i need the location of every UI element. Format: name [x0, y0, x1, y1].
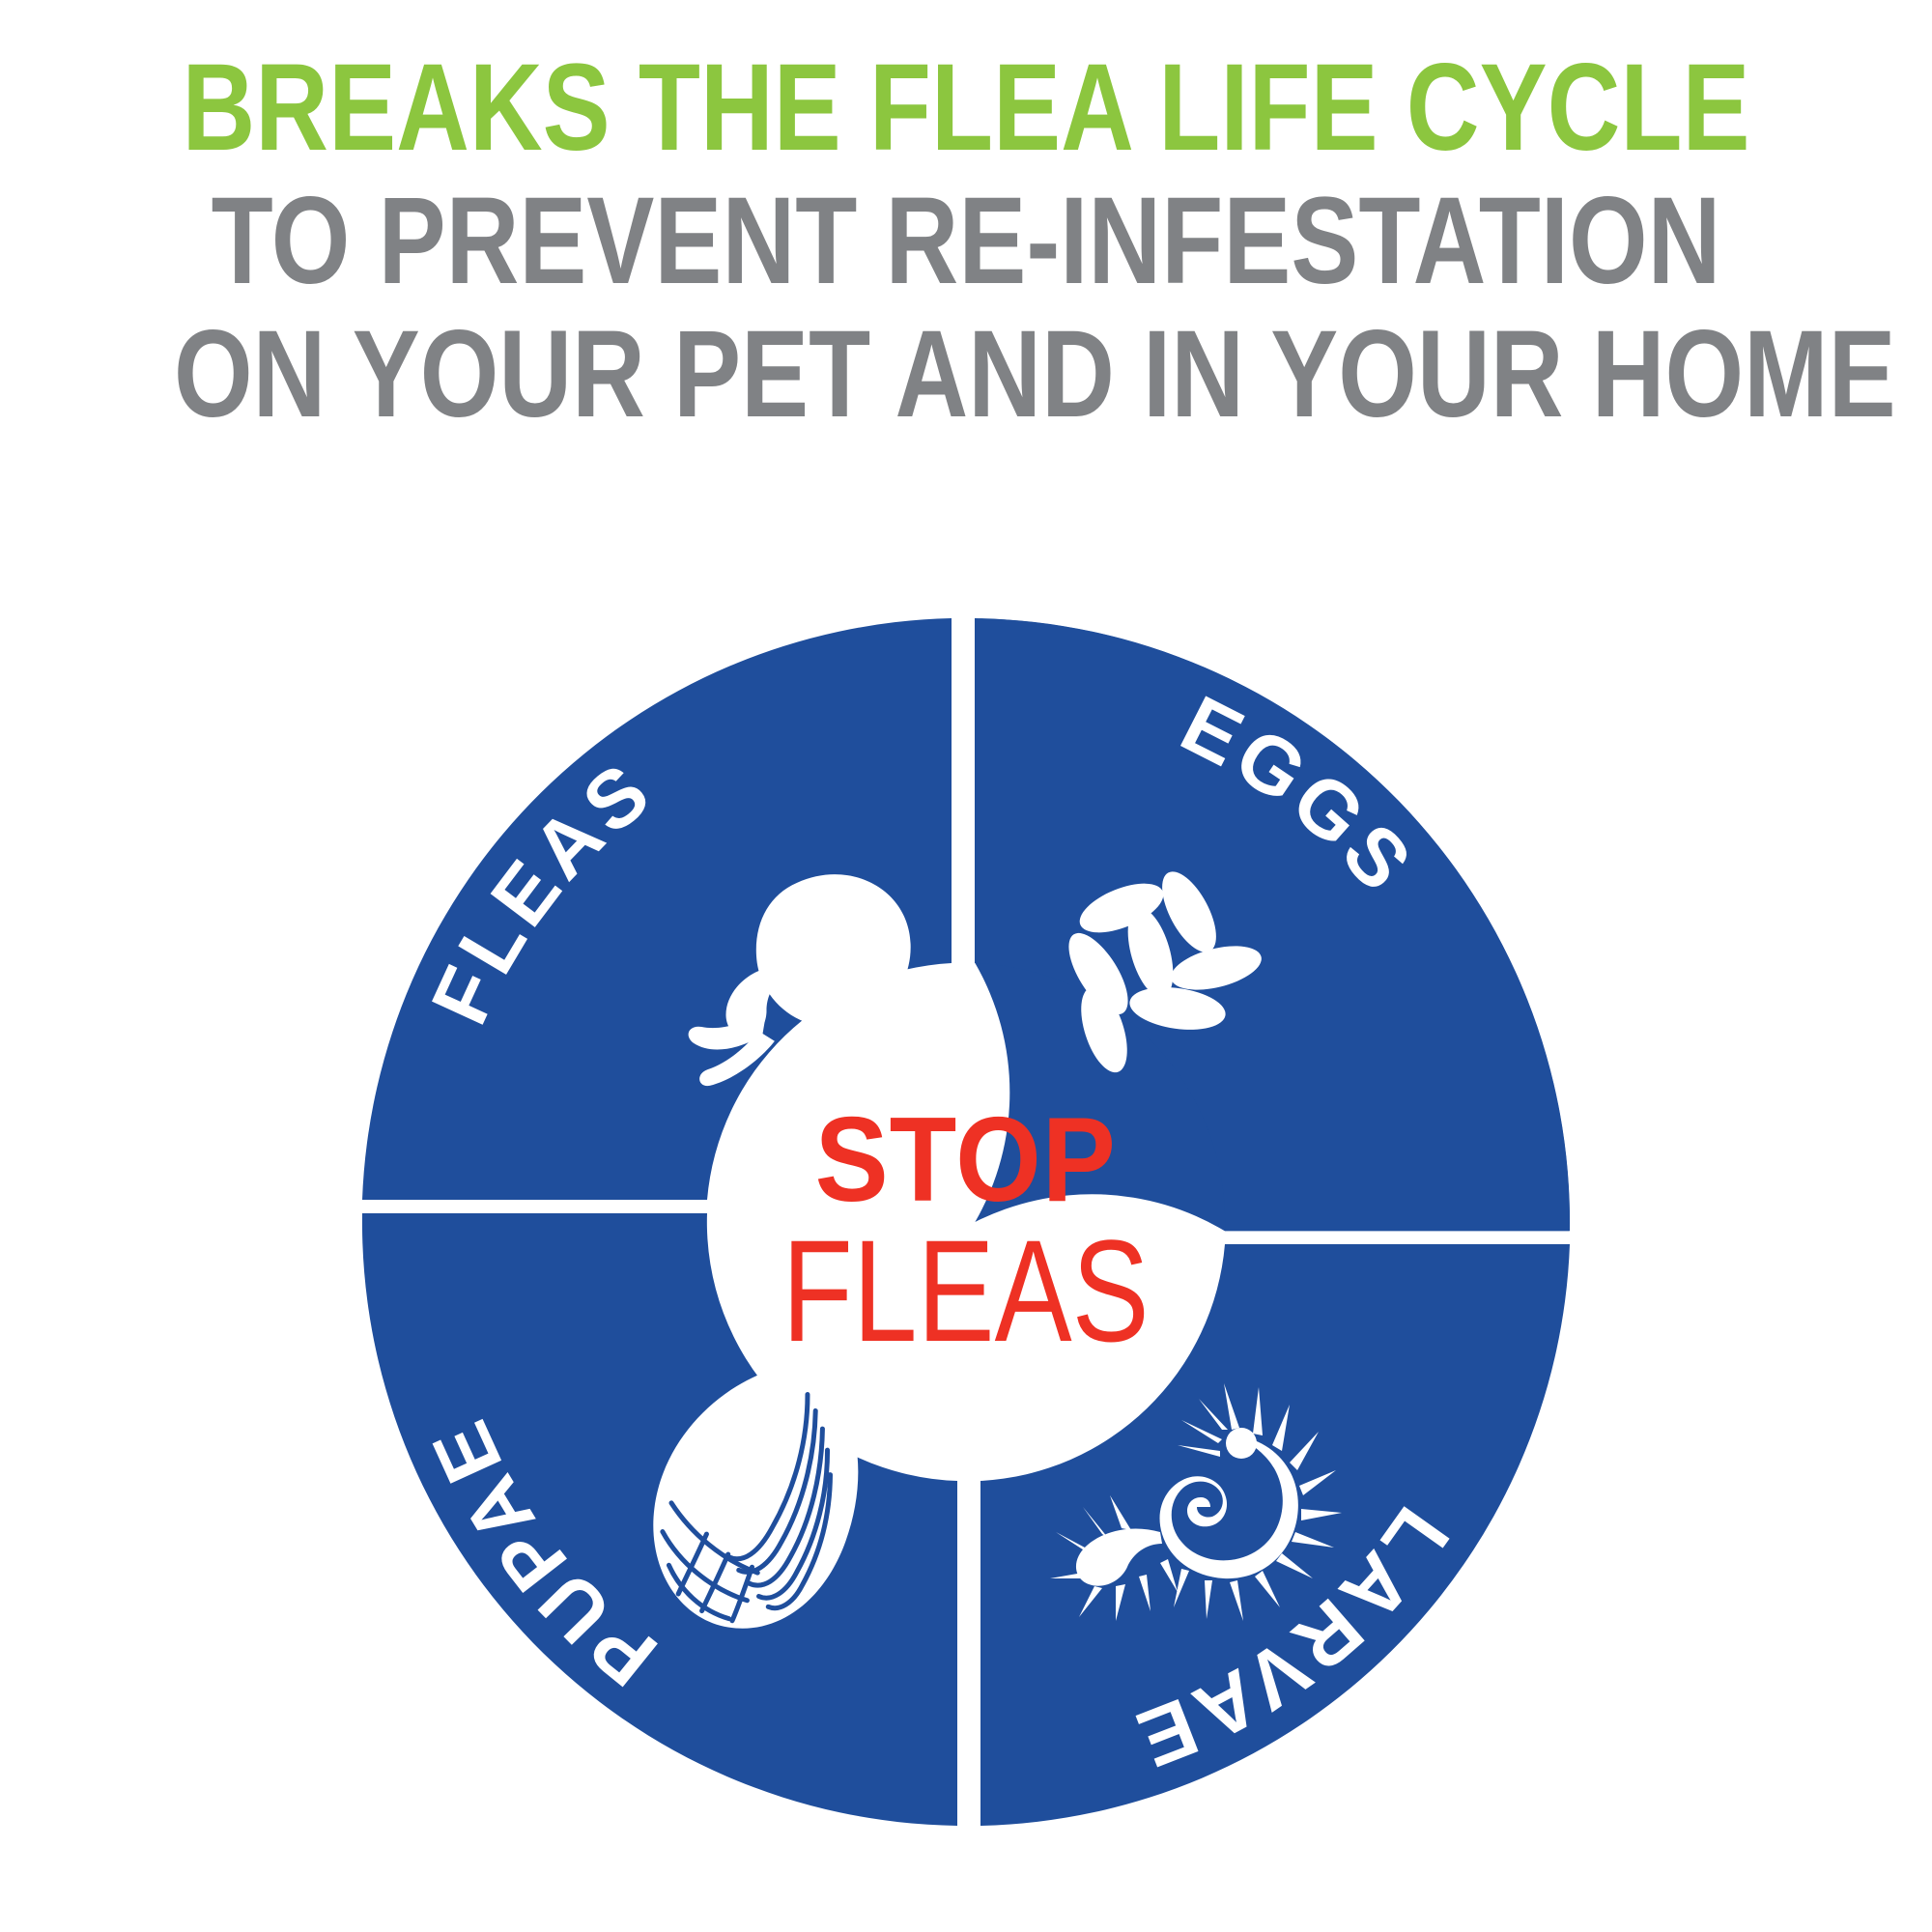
hub-fleas-text: FLEAS: [782, 1222, 1150, 1360]
headline-block: BREAKS THE FLEA LIFE CYCLE TO PREVENT RE…: [0, 46, 1932, 437]
hub-stop-text: STOP: [815, 1103, 1117, 1218]
headline-line-1: BREAKS THE FLEA LIFE CYCLE: [174, 46, 1758, 170]
headline-line-2: TO PREVENT RE-INFESTATION: [174, 180, 1758, 303]
center-hub: STOP FLEAS: [710, 976, 1222, 1488]
infographic-page: BREAKS THE FLEA LIFE CYCLE TO PREVENT RE…: [0, 0, 1932, 1932]
headline-line-3: ON YOUR PET AND IN YOUR HOME: [174, 313, 1758, 437]
